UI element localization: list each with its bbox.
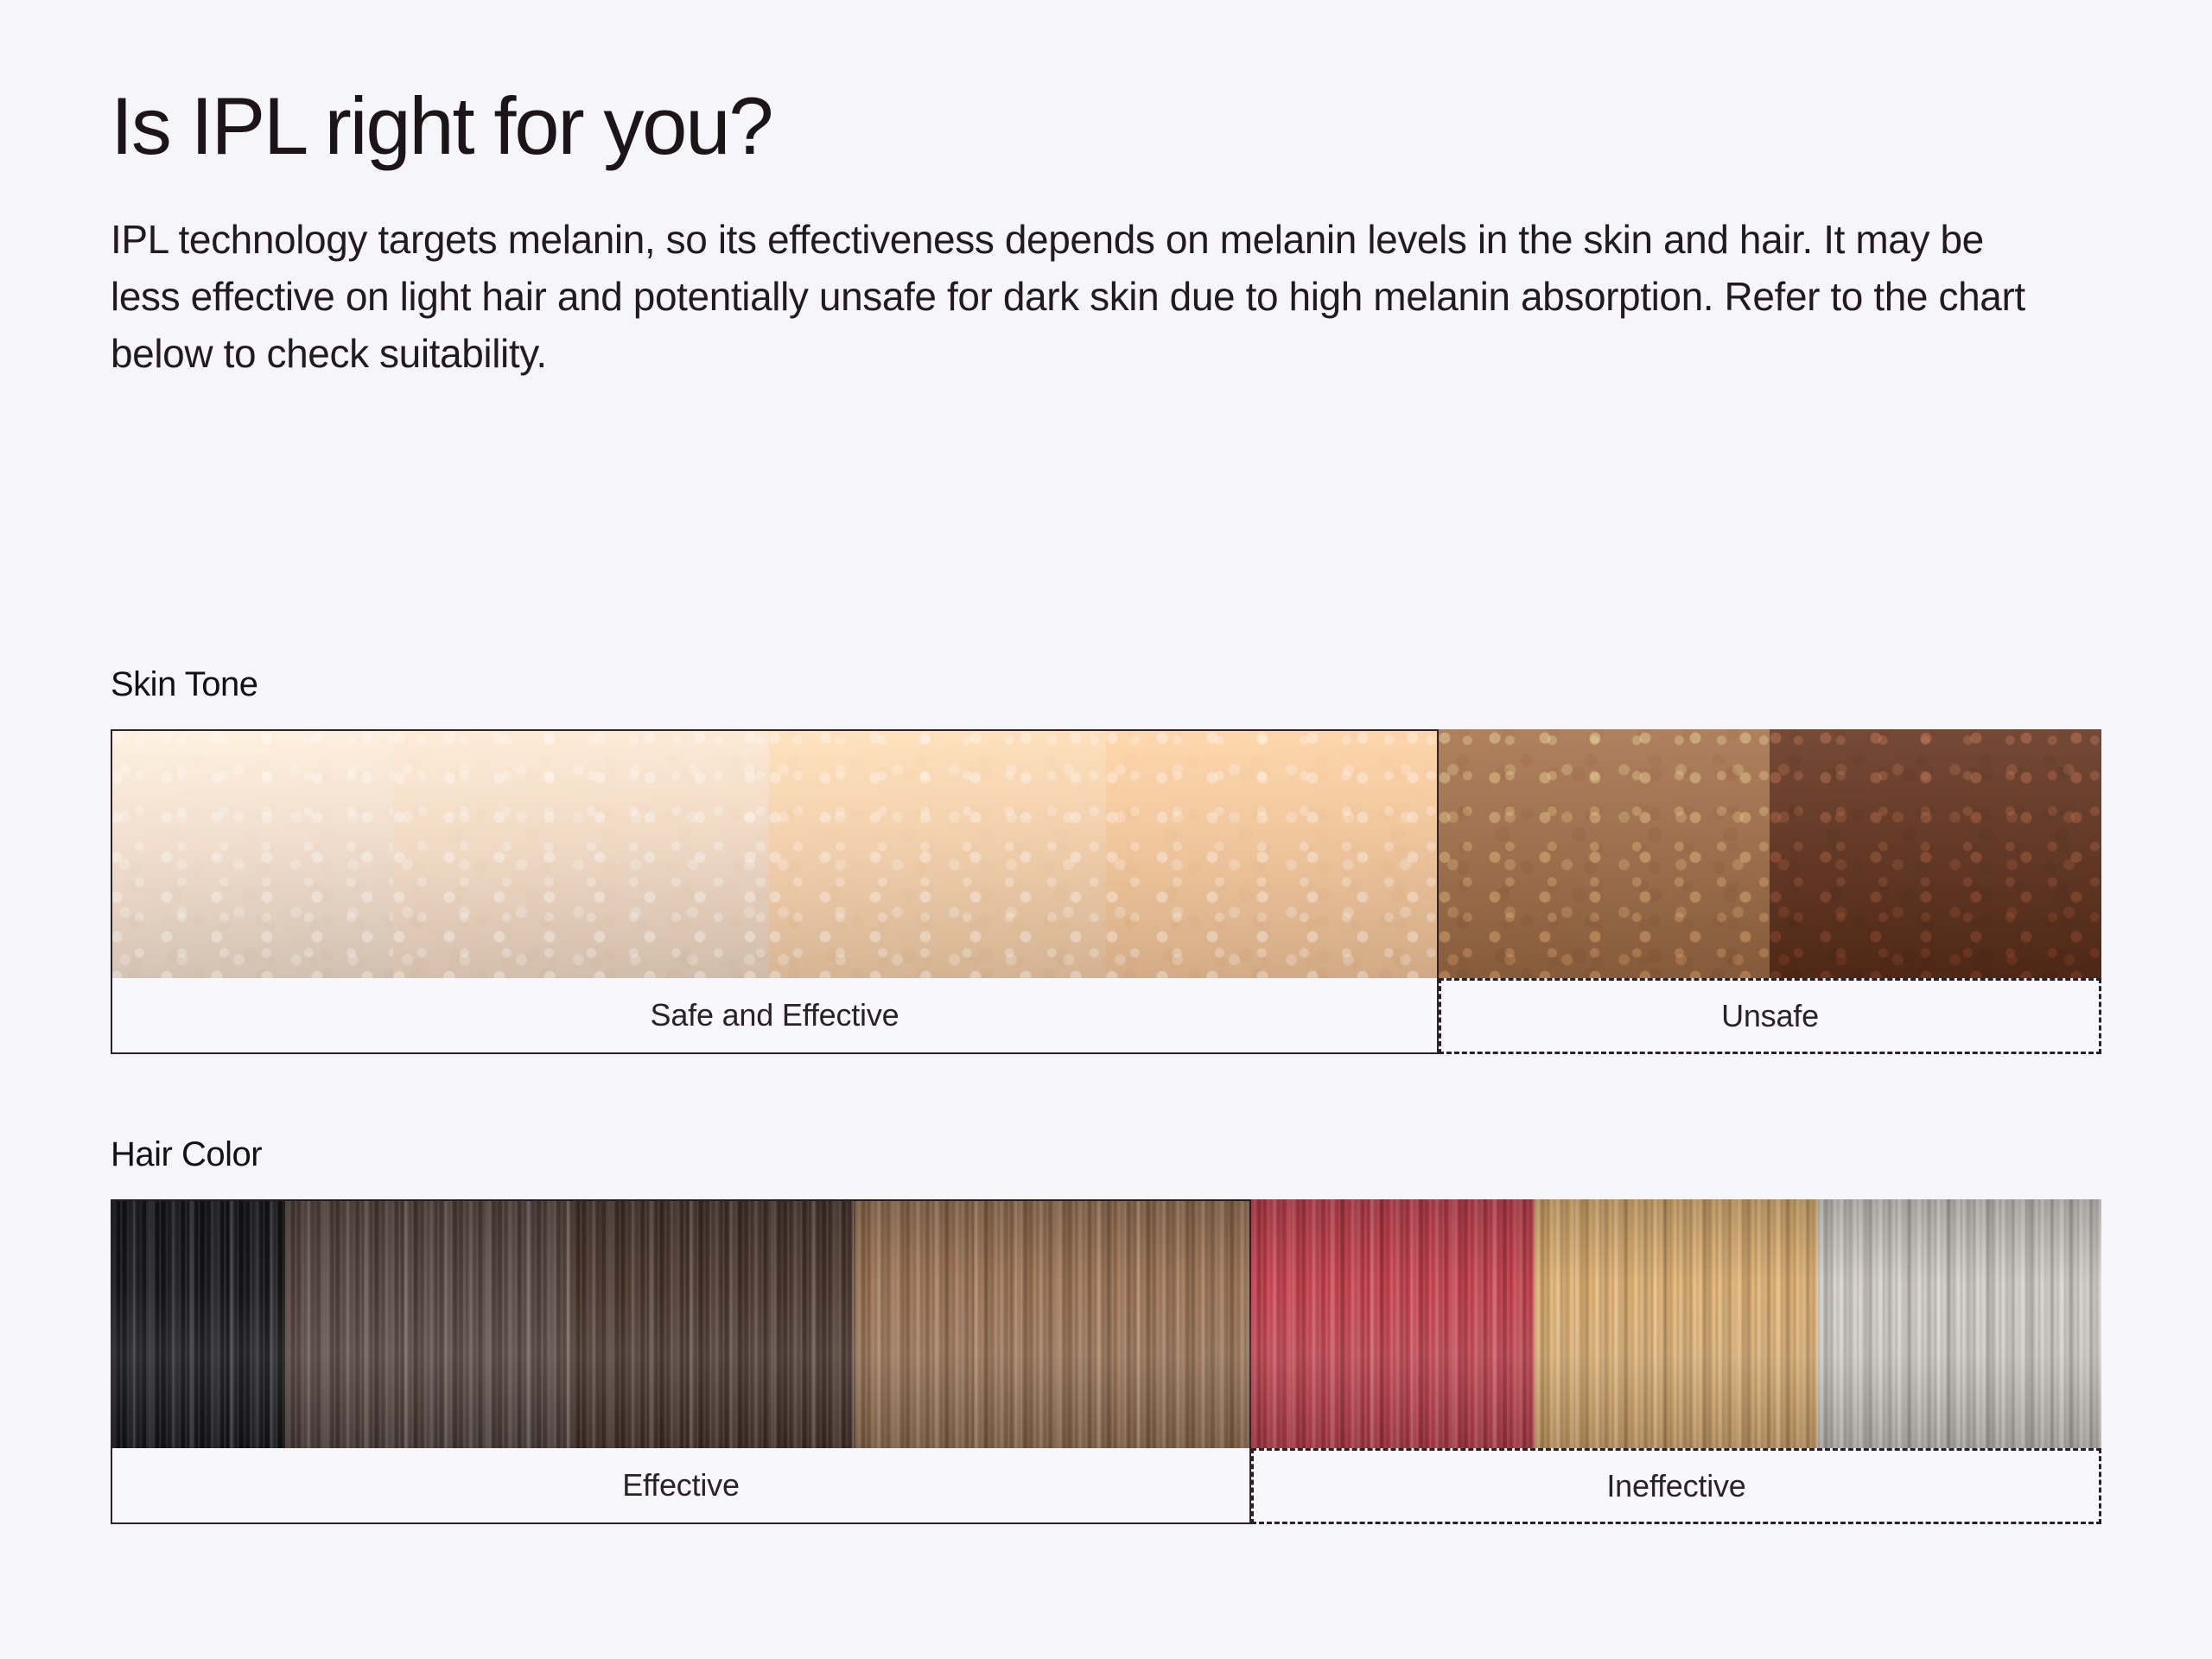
hair-legend-ineffective: Ineffective xyxy=(1251,1448,2101,1524)
skin-swatch-very-light[interactable] xyxy=(111,729,393,978)
skin-tone-group: Skin Tone Safe and EffectiveUnsafe xyxy=(111,667,2101,1054)
skin-swatch-tan-brown[interactable] xyxy=(1439,729,1770,978)
skin-legend-unsafe: Unsafe xyxy=(1439,978,2101,1054)
hair-swatch-black[interactable] xyxy=(111,1199,285,1448)
skin-swatch-light[interactable] xyxy=(393,729,769,978)
legend-label: Ineffective xyxy=(1606,1468,1745,1504)
skin-swatch-deep-brown[interactable] xyxy=(1770,729,2101,978)
skin-legend-safe-and-effective: Safe and Effective xyxy=(111,978,1439,1054)
header: Is IPL right for you? IPL technology tar… xyxy=(111,83,2098,382)
skin-tone-label: Skin Tone xyxy=(111,667,2101,702)
hair-swatch-platinum-white[interactable] xyxy=(1818,1199,2101,1448)
hair-color-group: Hair Color EffectiveIneffective xyxy=(111,1137,2101,1524)
legend-label: Unsafe xyxy=(1721,998,1819,1034)
skin-tone-legend-row: Safe and EffectiveUnsafe xyxy=(111,978,2101,1054)
hair-color-label: Hair Color xyxy=(111,1137,2101,1172)
skin-tone-swatch-wrap xyxy=(111,729,2101,978)
legend-label: Effective xyxy=(622,1467,740,1503)
hair-color-swatch-wrap xyxy=(111,1199,2101,1448)
page-intro: IPL technology targets melanin, so its e… xyxy=(111,211,2063,383)
skin-tone-swatch-row xyxy=(111,729,2101,978)
hair-swatch-dark-brown[interactable] xyxy=(570,1199,855,1448)
skin-swatch-light-medium[interactable] xyxy=(769,729,1106,978)
hair-legend-effective: Effective xyxy=(111,1448,1251,1524)
hair-swatch-red[interactable] xyxy=(1251,1199,1535,1448)
hair-swatch-light-brown[interactable] xyxy=(855,1199,1251,1448)
skin-swatch-medium[interactable] xyxy=(1106,729,1439,978)
hair-color-legend-row: EffectiveIneffective xyxy=(111,1448,2101,1524)
page-title: Is IPL right for you? xyxy=(111,83,2098,169)
hair-swatch-dark-grey-brown[interactable] xyxy=(285,1199,570,1448)
legend-label: Safe and Effective xyxy=(651,997,899,1033)
hair-swatch-blonde[interactable] xyxy=(1535,1199,1818,1448)
page-root: Is IPL right for you? IPL technology tar… xyxy=(0,0,2212,1659)
hair-color-swatch-row xyxy=(111,1199,2101,1448)
